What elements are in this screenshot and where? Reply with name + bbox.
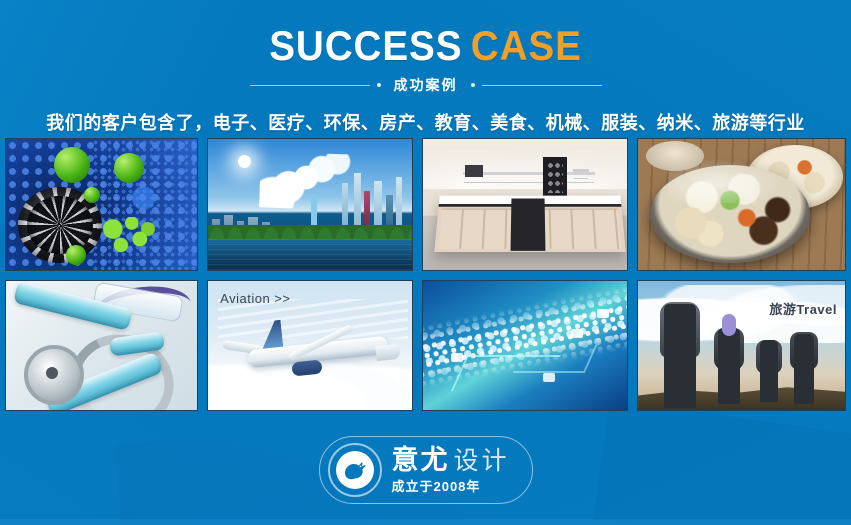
logo-text-block: 意尤 设计 成立于2008年 bbox=[391, 447, 509, 493]
medical-image bbox=[6, 281, 197, 410]
case-tile-aviation[interactable]: Aviation >> bbox=[207, 280, 413, 411]
case-tile-travel[interactable]: 旅游Travel bbox=[637, 280, 846, 411]
divider-dot-right bbox=[471, 83, 475, 87]
title-case: CASE bbox=[471, 22, 582, 69]
bottom-glow bbox=[0, 519, 851, 525]
company-logo[interactable]: 意尤 设计 成立于2008年 bbox=[318, 436, 532, 504]
logo-brand-thin: 设计 bbox=[453, 449, 509, 474]
title-success: SUCCESS bbox=[269, 22, 462, 69]
banner-header: SUCCESSCASE 成功案例 我们的客户包含了，电子、医疗、环保、房产、教育… bbox=[0, 0, 851, 135]
case-tile-electronics[interactable] bbox=[422, 280, 628, 411]
gallery-row-2: Aviation >> bbox=[0, 280, 851, 411]
logo-brand-bold: 意尤 bbox=[391, 447, 449, 474]
subtitle-divider-row: 成功案例 bbox=[0, 75, 851, 95]
divider-dot-left bbox=[377, 83, 381, 87]
divider-line-right bbox=[482, 85, 602, 86]
page-title: SUCCESSCASE bbox=[34, 24, 817, 68]
case-tile-laboratory[interactable] bbox=[422, 138, 628, 271]
tagline-text: 我们的客户包含了，电子、医疗、环保、房产、教育、美食、机械、服装、纳米、旅游等行… bbox=[0, 109, 851, 135]
success-case-banner: SUCCESSCASE 成功案例 我们的客户包含了，电子、医疗、环保、房产、教育… bbox=[0, 0, 851, 525]
electronics-image bbox=[423, 281, 627, 410]
case-gallery: Aviation >> bbox=[0, 138, 851, 411]
case-tile-medical[interactable] bbox=[5, 280, 198, 411]
environment-image bbox=[208, 139, 412, 270]
sun-icon bbox=[238, 155, 251, 168]
laboratory-image bbox=[423, 139, 627, 270]
case-tile-food[interactable] bbox=[637, 138, 846, 271]
logo-established: 成立于2008年 bbox=[391, 480, 480, 493]
gallery-row-1 bbox=[0, 138, 851, 271]
logo-badge bbox=[327, 443, 381, 497]
tile-caption-travel: 旅游Travel bbox=[769, 299, 837, 318]
food-image bbox=[638, 139, 845, 270]
swan-bird-icon bbox=[335, 451, 373, 489]
tile-caption-aviation: Aviation >> bbox=[220, 291, 290, 306]
case-tile-environment[interactable] bbox=[207, 138, 413, 271]
nanotechnology-image bbox=[6, 139, 197, 270]
divider-line-left bbox=[250, 85, 370, 86]
subtitle-chinese: 成功案例 bbox=[388, 75, 464, 95]
case-tile-nanotechnology[interactable] bbox=[5, 138, 198, 271]
